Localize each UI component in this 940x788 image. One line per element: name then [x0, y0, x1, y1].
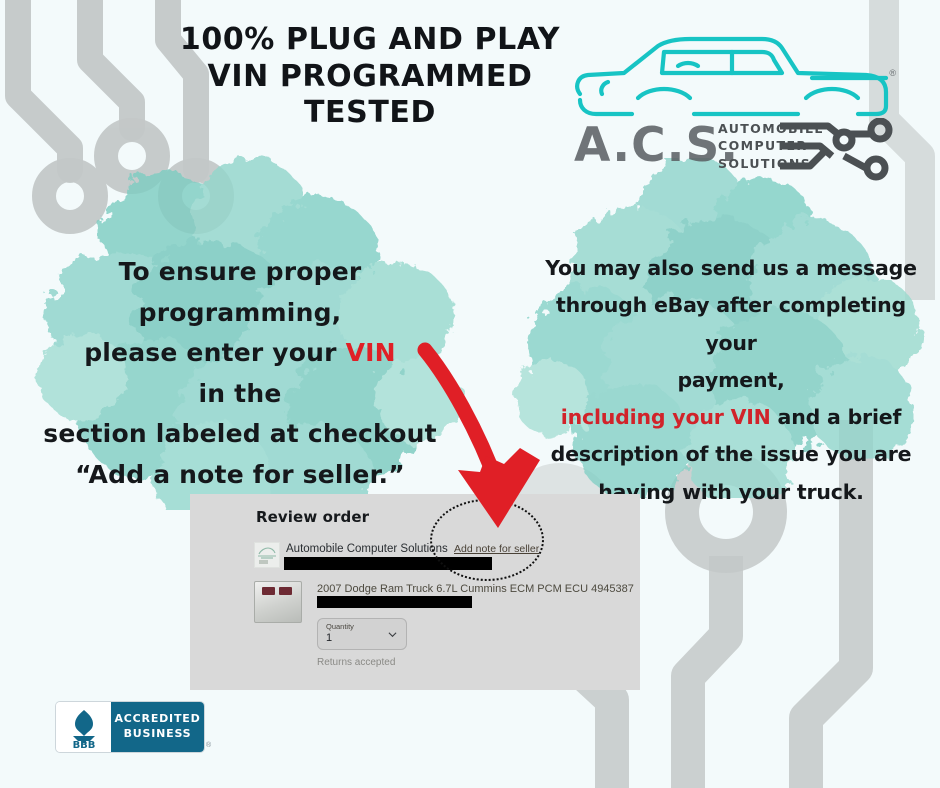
logo-circuit-icon: [780, 118, 900, 182]
left-line-3-text: please enter your: [84, 338, 345, 367]
quantity-value: 1: [326, 632, 332, 644]
left-line-6: “Add a note for seller.”: [28, 455, 452, 496]
promo-graphic: 100% PLUG AND PLAY VIN PROGRAMMED TESTED…: [0, 0, 940, 788]
bbb-line-2: BUSINESS: [124, 727, 192, 742]
chevron-down-icon: [388, 630, 397, 639]
right-line-2: through eBay after completing your: [540, 287, 922, 362]
ecm-connector-left: [262, 587, 275, 595]
quantity-select[interactable]: Quantity 1: [317, 618, 407, 650]
product-thumbnail-ecm[interactable]: [254, 581, 302, 623]
vin-highlight-left: VIN: [346, 338, 396, 367]
bbb-accredited-badge[interactable]: BBB ACCREDITED BUSINESS: [56, 702, 204, 752]
vin-highlight-right: including your VIN: [561, 405, 771, 429]
instruction-text-left: To ensure proper programming, please ent…: [28, 252, 452, 495]
redaction-bar-price: [317, 596, 472, 608]
bbb-text: ACCREDITED BUSINESS: [111, 702, 204, 752]
red-arrow-pointer: [400, 338, 590, 538]
left-line-1: To ensure proper: [28, 252, 452, 293]
headline: 100% PLUG AND PLAY VIN PROGRAMMED TESTED: [110, 22, 630, 132]
bbb-line-1: ACCREDITED: [114, 712, 200, 727]
left-line-2: programming,: [28, 293, 452, 334]
bbb-logo: BBB: [56, 702, 111, 752]
right-line-3: payment,: [540, 362, 922, 399]
bbb-torch-icon: BBB: [62, 705, 106, 749]
bbb-letters: BBB: [72, 740, 95, 749]
right-line-4-text: and a brief: [771, 405, 902, 429]
review-order-heading: Review order: [256, 508, 369, 526]
left-line-3: please enter your VIN: [28, 333, 452, 374]
returns-accepted-text: Returns accepted: [317, 657, 395, 668]
bbb-registered-mark: ®: [206, 742, 211, 749]
right-line-4: including your VIN and a brief: [540, 399, 922, 436]
logo-acs-text: A.C.S.: [574, 118, 739, 173]
right-line-5: description of the issue you are: [540, 436, 922, 473]
instruction-text-right: You may also send us a message through e…: [540, 250, 922, 511]
product-title[interactable]: 2007 Dodge Ram Truck 6.7L Cummins ECM PC…: [317, 583, 634, 595]
acs-logo: A.C.S. AUTOMOBILE COMPUTER SOLUTIONS ®: [566, 32, 902, 172]
left-line-4: in the: [28, 374, 452, 415]
headline-line-3: TESTED: [110, 95, 630, 132]
left-line-5: section labeled at checkout: [28, 414, 452, 455]
seller-avatar: [254, 542, 280, 568]
seller-logo-icon: [255, 543, 279, 567]
ecm-connector-right: [279, 587, 292, 595]
registered-mark: ®: [889, 68, 896, 78]
headline-line-1: 100% PLUG AND PLAY: [110, 22, 630, 59]
seller-name: Automobile Computer Solutions: [286, 543, 448, 555]
right-line-1: You may also send us a message: [540, 250, 922, 287]
headline-line-2: VIN PROGRAMMED: [110, 59, 630, 96]
quantity-label: Quantity: [326, 622, 354, 631]
